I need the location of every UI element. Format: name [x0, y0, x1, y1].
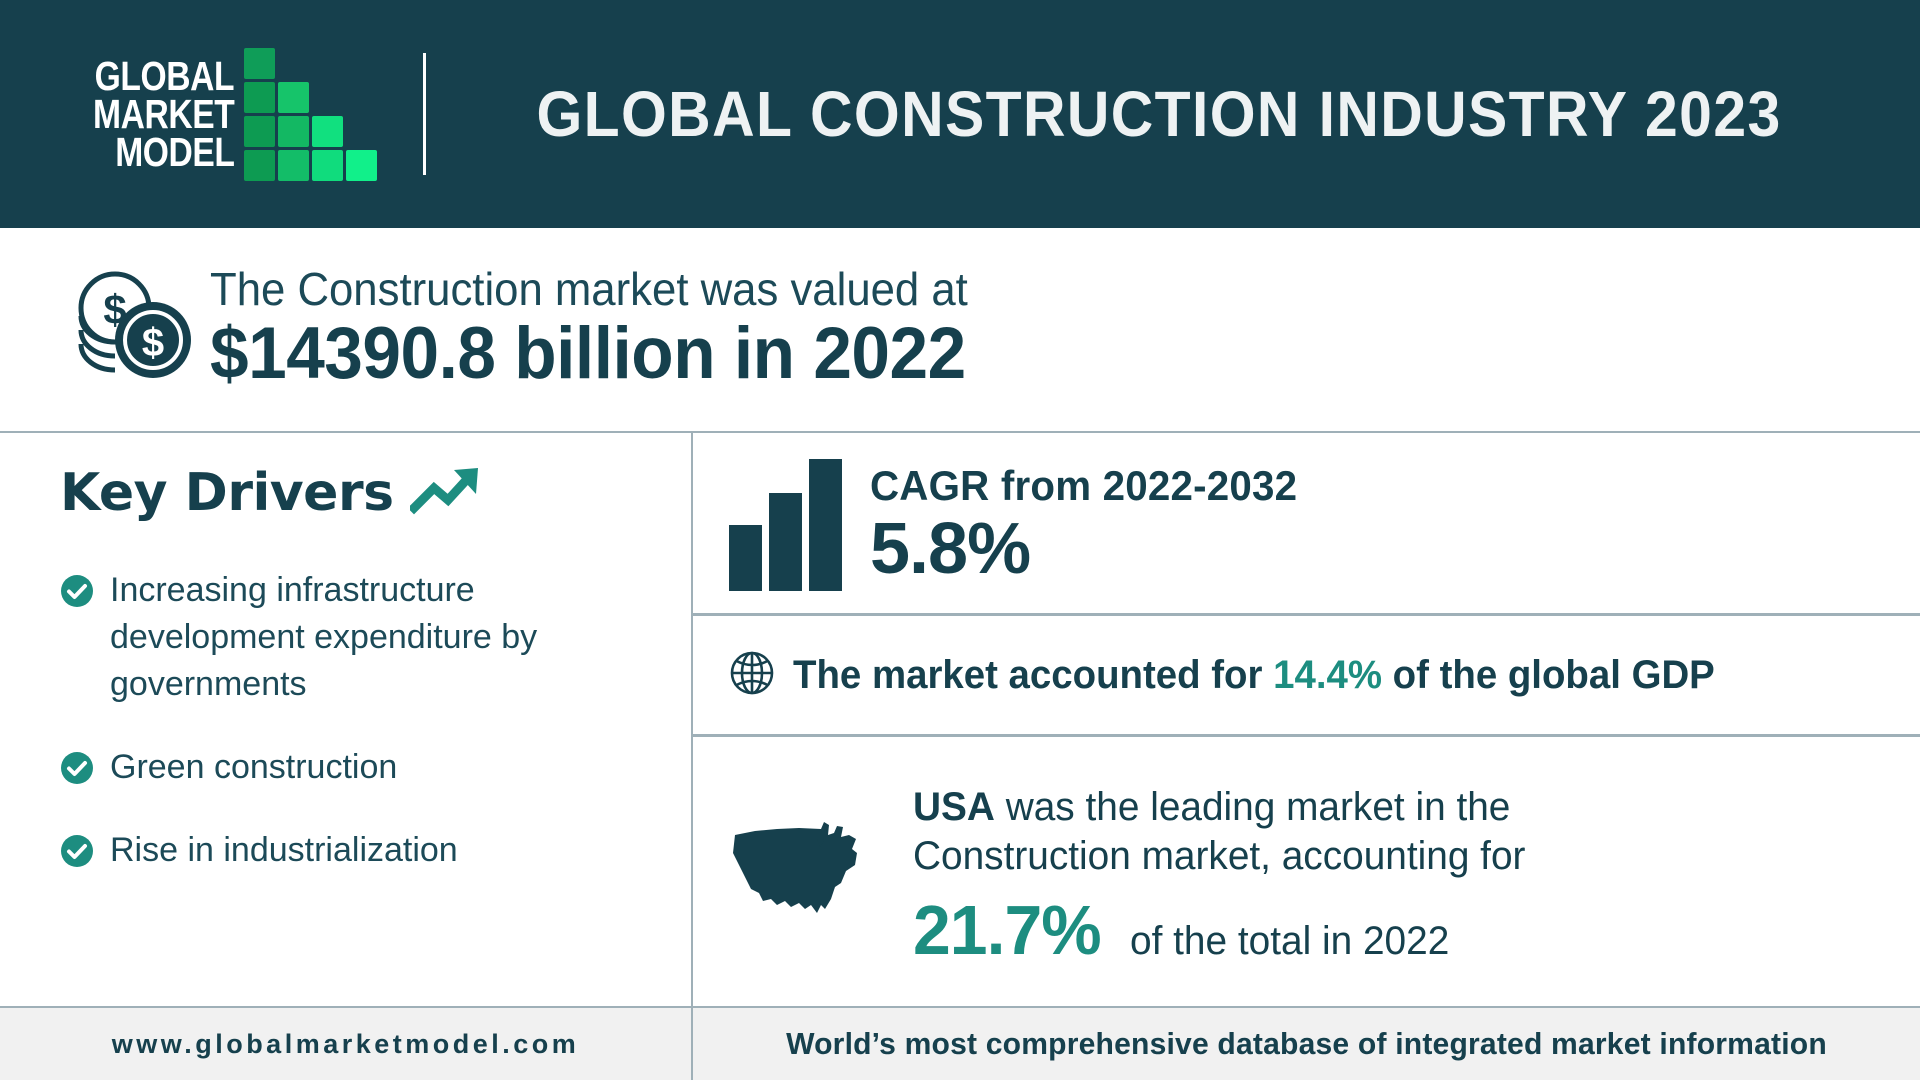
usa-map-icon	[725, 813, 885, 940]
logo-tile	[278, 82, 309, 113]
svg-text:$: $	[142, 321, 164, 365]
key-drivers-panel: Key Drivers Increasing infrastructure de…	[0, 433, 693, 1006]
header-bar: GLOBAL MARKET MODEL GLOBAL CONSTRUCTION …	[0, 0, 1920, 228]
coins-icon: $ $	[68, 268, 196, 391]
gdp-suffix: of the global GDP	[1382, 653, 1715, 697]
logo-tile	[244, 82, 275, 113]
body-columns: Key Drivers Increasing infrastructure de…	[0, 433, 1920, 1006]
trend-up-arrow-icon	[410, 464, 482, 523]
leading-market-country: USA	[913, 785, 995, 829]
logo-tile	[244, 48, 275, 79]
key-driver-item: Rise in industrialization	[60, 827, 651, 874]
brand-logo[interactable]: GLOBAL MARKET MODEL	[62, 39, 377, 189]
leading-market-row: USA was the leading market in the Constr…	[693, 737, 1920, 1006]
footer-tagline: World’s most comprehensive database of i…	[711, 1008, 1901, 1080]
cagr-value: 5.8%	[870, 512, 1315, 588]
stats-panel: CAGR from 2022-2032 5.8%	[693, 433, 1920, 1006]
market-value-lead: The Construction market was valued at	[210, 265, 968, 313]
leading-market-text: USA was the leading market in the Constr…	[913, 783, 1553, 881]
logo-line-2: MARKET	[93, 95, 234, 133]
leading-market-percent: 21.7%	[913, 890, 1101, 970]
key-drivers-title: Key Drivers	[60, 463, 394, 523]
check-circle-icon	[60, 834, 94, 873]
logo-bar-tiles-icon	[244, 48, 377, 181]
key-driver-item: Green construction	[60, 744, 651, 791]
key-drivers-list: Increasing infrastructure development ex…	[60, 567, 651, 874]
key-driver-label: Increasing infrastructure development ex…	[110, 567, 580, 708]
check-circle-icon	[60, 751, 94, 790]
cagr-row: CAGR from 2022-2032 5.8%	[693, 433, 1920, 616]
market-value-amount: $14390.8 billion in 2022	[210, 315, 968, 394]
logo-tile	[346, 150, 377, 181]
footer-bar: www.globalmarketmodel.com World’s most c…	[0, 1006, 1920, 1080]
key-driver-label: Green construction	[110, 744, 397, 791]
page-title: GLOBAL CONSTRUCTION INDUSTRY 2023	[486, 77, 1860, 151]
key-drivers-header: Key Drivers	[60, 463, 651, 523]
gdp-percent: 14.4%	[1273, 653, 1382, 697]
infographic-root: GLOBAL MARKET MODEL GLOBAL CONSTRUCTION …	[0, 0, 1920, 1080]
footer-website-link[interactable]: www.globalmarketmodel.com	[0, 1008, 693, 1080]
logo-wordmark: GLOBAL MARKET MODEL	[62, 57, 234, 171]
leading-market-percent-tail: of the total in 2022	[1130, 919, 1449, 964]
logo-tile	[244, 116, 275, 147]
cagr-label: CAGR from 2022-2032	[870, 462, 1297, 510]
header-divider	[423, 53, 426, 175]
logo-line-1: GLOBAL	[95, 57, 234, 95]
bar-chart-icon	[729, 459, 842, 591]
logo-line-3: MODEL	[115, 133, 234, 171]
gdp-share-row: The market accounted for 14.4% of the gl…	[693, 616, 1920, 737]
key-driver-label: Rise in industrialization	[110, 827, 458, 874]
gdp-prefix: The market accounted for	[793, 653, 1273, 697]
market-value-banner: $ $ The Construction market was valued a…	[0, 228, 1920, 433]
logo-tile	[312, 150, 343, 181]
check-circle-icon	[60, 574, 94, 613]
logo-tile	[278, 116, 309, 147]
key-driver-item: Increasing infrastructure development ex…	[60, 567, 651, 708]
leading-market-lead-rest: was the leading market in the Constructi…	[913, 785, 1525, 878]
logo-tile	[312, 116, 343, 147]
gdp-share-text: The market accounted for 14.4% of the gl…	[793, 653, 1715, 698]
logo-tile	[244, 150, 275, 181]
globe-icon	[729, 649, 775, 702]
logo-tile	[278, 150, 309, 181]
